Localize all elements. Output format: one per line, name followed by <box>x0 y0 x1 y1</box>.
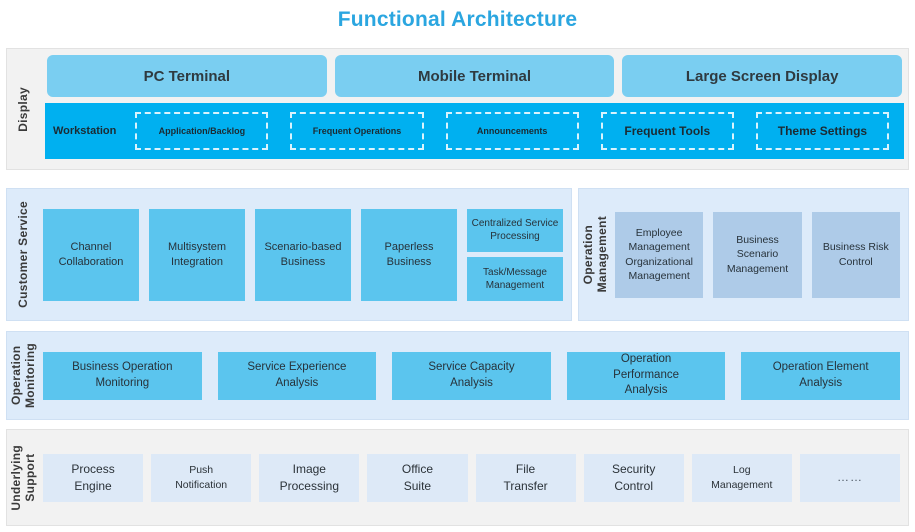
layer-display: Display PC Terminal Mobile Terminal Larg… <box>6 48 909 170</box>
terminal-card-mobile[interactable]: Mobile Terminal <box>335 55 615 97</box>
workstation-label: Workstation <box>51 125 122 137</box>
card-scenario-based-business[interactable]: Scenario-based Business <box>255 209 351 301</box>
layer-label-underlying-support-text: Underlying Support <box>10 445 38 511</box>
customer-service-body: Channel Collaboration Multisystem Integr… <box>41 189 571 320</box>
card-service-experience-analysis[interactable]: Service Experience Analysis <box>218 352 377 400</box>
layer-label-display: Display <box>7 49 41 169</box>
card-paperless-business[interactable]: Paperless Business <box>361 209 457 301</box>
layer-label-operation-monitoring-text: Operation Monitoring <box>10 343 38 408</box>
card-multisystem-integration[interactable]: Multisystem Integration <box>149 209 245 301</box>
card-channel-collaboration[interactable]: Channel Collaboration <box>43 209 139 301</box>
card-service-capacity-analysis[interactable]: Service Capacity Analysis <box>392 352 551 400</box>
layer-label-customer-service-text: Customer Service <box>17 201 31 308</box>
card-business-risk-control[interactable]: Business Risk Control <box>812 212 900 298</box>
workstation-row: Workstation Application/Backlog Frequent… <box>45 103 904 159</box>
card-operation-performance-analysis[interactable]: Operation Performance Analysis <box>567 352 726 400</box>
card-employee-management[interactable]: Employee Management Organizational Manag… <box>615 212 703 298</box>
card-more-ellipsis[interactable]: …… <box>800 454 900 502</box>
terminal-card-large-screen[interactable]: Large Screen Display <box>622 55 902 97</box>
card-task-message-management[interactable]: Task/Message Management <box>467 257 563 301</box>
card-operation-element-analysis[interactable]: Operation Element Analysis <box>741 352 900 400</box>
card-centralized-service-processing[interactable]: Centralized Service Processing <box>467 209 563 253</box>
card-process-engine[interactable]: Process Engine <box>43 454 143 502</box>
chip-frequent-operations[interactable]: Frequent Operations <box>290 112 423 150</box>
layer-label-underlying-support: Underlying Support <box>7 430 41 525</box>
layer-label-operation-management-text: Operation Management <box>582 216 610 292</box>
chip-announcements[interactable]: Announcements <box>446 112 579 150</box>
layer-label-operation-management: Operation Management <box>579 189 613 320</box>
terminal-row: PC Terminal Mobile Terminal Large Screen… <box>45 55 904 97</box>
layer-label-operation-monitoring: Operation Monitoring <box>7 332 41 419</box>
layer-customer-service: Customer Service Channel Collaboration M… <box>6 188 572 321</box>
card-stack-service-processing: Centralized Service Processing Task/Mess… <box>467 209 563 301</box>
chip-frequent-tools[interactable]: Frequent Tools <box>601 112 734 150</box>
operation-monitoring-body: Business Operation Monitoring Service Ex… <box>41 332 908 419</box>
operation-management-body: Employee Management Organizational Manag… <box>613 189 908 320</box>
card-business-operation-monitoring[interactable]: Business Operation Monitoring <box>43 352 202 400</box>
card-file-transfer[interactable]: File Transfer <box>476 454 576 502</box>
page-title: Functional Architecture <box>0 8 915 32</box>
layer-label-customer-service: Customer Service <box>7 189 41 320</box>
card-image-processing[interactable]: Image Processing <box>259 454 359 502</box>
display-body: PC Terminal Mobile Terminal Large Screen… <box>41 49 908 169</box>
terminal-card-pc[interactable]: PC Terminal <box>47 55 327 97</box>
chip-theme-settings[interactable]: Theme Settings <box>756 112 889 150</box>
layer-operation-monitoring: Operation Monitoring Business Operation … <box>6 331 909 420</box>
card-security-control[interactable]: Security Control <box>584 454 684 502</box>
card-log-management[interactable]: Log Management <box>692 454 792 502</box>
card-business-scenario-management[interactable]: Business Scenario Management <box>713 212 801 298</box>
layer-underlying-support: Underlying Support Process Engine Push N… <box>6 429 909 526</box>
card-push-notification[interactable]: Push Notification <box>151 454 251 502</box>
underlying-support-body: Process Engine Push Notification Image P… <box>41 430 908 525</box>
card-office-suite[interactable]: Office Suite <box>367 454 467 502</box>
layer-label-display-text: Display <box>17 87 31 132</box>
chip-application-backlog[interactable]: Application/Backlog <box>135 112 268 150</box>
layer-operation-management: Operation Management Employee Management… <box>578 188 909 321</box>
